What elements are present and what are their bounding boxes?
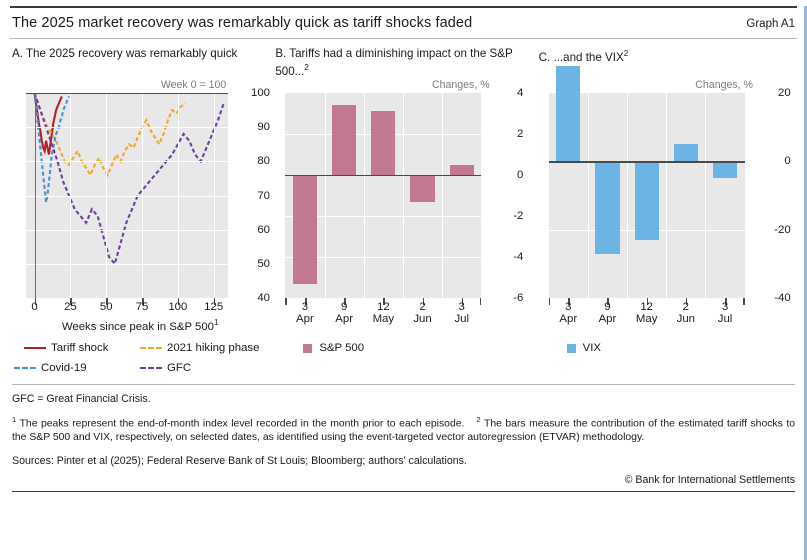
panels-container: A. The 2025 recovery was remarkably quic… — [10, 47, 797, 384]
y-axis-tick-label: 90 — [257, 121, 270, 133]
legend-item-2021-hiking-phase: 2021 hiking phase — [140, 342, 259, 354]
legend-label: GFC — [167, 362, 191, 374]
x-axis-tick-label: 125 — [204, 301, 223, 313]
legend-swatch-icon — [14, 367, 36, 369]
category-month: May — [373, 313, 395, 325]
legend-label: Tariff shock — [51, 342, 108, 354]
bar — [450, 165, 474, 175]
legend-label: 2021 hiking phase — [167, 342, 259, 354]
graph-page: The 2025 market recovery was remarkably … — [0, 6, 807, 560]
legend-item-vix: VIX — [567, 342, 601, 354]
page-title: The 2025 market recovery was remarkably … — [12, 15, 472, 31]
panel-b-title-text: B. Tariffs had a diminishing impact on t… — [275, 47, 512, 78]
abbreviation-note: GFC = Great Financial Crisis. — [12, 393, 795, 405]
category-month: Jun — [413, 313, 431, 325]
y-axis-tick-label: 60 — [257, 224, 270, 236]
panel-a-axis-title-footnote: 1 — [214, 318, 218, 327]
gridline-horizontal — [26, 161, 228, 162]
category-day: 9 — [341, 301, 347, 313]
gridline-vertical — [705, 93, 706, 298]
x-axis-category-label: 12May — [373, 301, 395, 325]
legend-swatch-icon — [303, 344, 312, 353]
x-axis-category-label: 3Apr — [559, 301, 577, 325]
bar — [371, 111, 395, 175]
panel-a-legend: Tariff shock2021 hiking phaseCovid-19GFC — [10, 342, 270, 384]
legend-label: S&P 500 — [319, 342, 364, 354]
panel-c-legend: VIX — [537, 342, 797, 366]
panel-c-plot — [549, 93, 745, 298]
legend-item-tariff-shock: Tariff shock — [24, 342, 108, 354]
legend-item-covid-19: Covid-19 — [14, 362, 87, 374]
category-day: 3 — [565, 301, 571, 313]
category-day: 2 — [683, 301, 689, 313]
footnote-2-marker: 2 — [476, 415, 480, 424]
bar — [713, 161, 737, 178]
gridline-vertical — [364, 93, 365, 298]
y-axis-tick-label: -2 — [513, 210, 523, 222]
footer: GFC = Great Financial Crisis. 1 The peak… — [10, 384, 797, 492]
panel-a-plot-wrap: 405060708090100 — [10, 93, 270, 298]
legend-swatch-icon — [140, 367, 162, 369]
x-axis-tick-label: 25 — [64, 301, 77, 313]
gridline-vertical — [442, 93, 443, 298]
panel-c-title-footnote: 2 — [624, 49, 628, 58]
y-axis-tick-label: 100 — [251, 87, 270, 99]
panel-a-unit: Week 0 = 100 — [10, 77, 270, 93]
y-axis-tick-label: -20 — [774, 224, 790, 236]
legend-swatch-icon — [567, 344, 576, 353]
x-axis-tick-label: 75 — [136, 301, 149, 313]
category-day: 3 — [302, 301, 308, 313]
bar — [635, 161, 659, 240]
y-axis-tick-label: 50 — [257, 258, 270, 270]
panel-c-plot-wrap: -40-20020 — [537, 93, 797, 298]
panel-b-plot — [285, 93, 481, 298]
category-day: 3 — [459, 301, 465, 313]
x-axis-category-label: 2Jun — [677, 301, 695, 325]
footnote-1-marker: 1 — [12, 415, 16, 424]
x-axis-category-label: 12May — [636, 301, 658, 325]
legend-swatch-icon — [140, 347, 162, 349]
gridline-horizontal — [26, 264, 228, 265]
y-axis-tick-label: 80 — [257, 155, 270, 167]
line-series-gfc — [35, 93, 224, 264]
legend-swatch-icon — [24, 347, 46, 349]
bottom-rule — [12, 491, 795, 493]
y-axis-tick-label: 2 — [517, 128, 523, 140]
panel-a-y-labels: 405060708090100 — [230, 93, 270, 298]
panel-b: B. Tariffs had a diminishing impact on t… — [273, 47, 533, 384]
panel-b-plot-wrap: -6-4-2024 — [273, 93, 533, 298]
x-axis-tick-label: 100 — [168, 301, 187, 313]
category-month: Jun — [677, 313, 695, 325]
panel-b-title-footnote: 2 — [304, 63, 308, 72]
panel-c: C. ...and the VIX2 Changes, % -40-20020 … — [537, 47, 797, 384]
panel-c-title-text: C. ...and the VIX — [539, 51, 624, 64]
panel-b-legend: S&P 500 — [273, 342, 533, 366]
copyright-note: © Bank for International Settlements — [12, 474, 795, 486]
category-day: 9 — [604, 301, 610, 313]
bar — [674, 144, 698, 161]
y-axis-tick-label: 70 — [257, 190, 270, 202]
bar — [556, 66, 580, 162]
bar — [595, 161, 619, 253]
panel-a-axis-title: Weeks since peak in S&P 5001 — [10, 318, 270, 333]
category-month: Apr — [335, 313, 353, 325]
y-axis-tick-label: 0 — [784, 155, 790, 167]
category-day: 12 — [377, 301, 390, 313]
panel-b-unit: Changes, % — [273, 77, 533, 93]
y-axis-tick-label: 20 — [778, 87, 791, 99]
gridline-vertical — [325, 93, 326, 298]
reference-line-100 — [26, 93, 228, 94]
category-month: Apr — [599, 313, 617, 325]
footnote-1-text: The peaks represent the end-of-month ind… — [20, 418, 465, 429]
category-month: Apr — [296, 313, 314, 325]
bar — [293, 175, 317, 284]
zero-line — [285, 175, 481, 176]
gridline-horizontal — [26, 196, 228, 197]
panel-a: A. The 2025 recovery was remarkably quic… — [10, 47, 270, 384]
panel-a-title: A. The 2025 recovery was remarkably quic… — [10, 47, 270, 77]
title-underline — [10, 38, 797, 39]
y-axis-tick-label: 4 — [517, 87, 523, 99]
category-month: May — [636, 313, 658, 325]
x-axis-category-label: 2Jun — [413, 301, 431, 325]
gridline-horizontal — [26, 230, 228, 231]
category-month: Jul — [454, 313, 469, 325]
panel-a-axis-title-text: Weeks since peak in S&P 500 — [62, 321, 214, 333]
gridline-vertical — [403, 93, 404, 298]
panel-a-plot — [26, 93, 228, 298]
gridline-vertical — [627, 93, 628, 298]
y-axis-tick-label: 0 — [517, 169, 523, 181]
category-day: 3 — [722, 301, 728, 313]
legend-label: Covid-19 — [41, 362, 87, 374]
zero-line — [549, 161, 745, 162]
category-day: 12 — [640, 301, 653, 313]
x-axis-tick-label: 50 — [100, 301, 113, 313]
bar — [410, 175, 434, 202]
legend-label: VIX — [583, 342, 601, 354]
title-row: The 2025 market recovery was remarkably … — [10, 8, 797, 38]
footnotes: 1 The peaks represent the end-of-month i… — [12, 413, 795, 445]
panel-b-title: B. Tariffs had a diminishing impact on t… — [273, 47, 533, 77]
gridline-vertical — [588, 93, 589, 298]
panel-b-y-labels: -6-4-2024 — [483, 93, 523, 298]
legend-item-s-p-500: S&P 500 — [303, 342, 364, 354]
x-axis-category-label: 3Jul — [718, 301, 733, 325]
gridline-horizontal — [26, 127, 228, 128]
bar — [332, 105, 356, 175]
x-axis-category-label: 3Apr — [296, 301, 314, 325]
x-axis-category-label: 9Apr — [599, 301, 617, 325]
legend-item-gfc: GFC — [140, 362, 191, 374]
panel-c-y-labels: -40-20020 — [747, 93, 791, 298]
y-axis-tick-label: -4 — [513, 251, 523, 263]
panel-a-title-text: A. The 2025 recovery was remarkably quic… — [12, 47, 237, 60]
x-axis-category-label: 9Apr — [335, 301, 353, 325]
sources-note: Sources: Pinter et al (2025); Federal Re… — [12, 455, 795, 467]
vertical-line-week-zero — [35, 93, 37, 298]
category-day: 2 — [419, 301, 425, 313]
graph-number: Graph A1 — [746, 18, 795, 30]
gridline-vertical — [666, 93, 667, 298]
footer-rule — [12, 384, 795, 385]
x-axis-category-label: 3Jul — [454, 301, 469, 325]
category-month: Jul — [718, 313, 733, 325]
x-axis-tick-label: 0 — [31, 301, 37, 313]
category-month: Apr — [559, 313, 577, 325]
